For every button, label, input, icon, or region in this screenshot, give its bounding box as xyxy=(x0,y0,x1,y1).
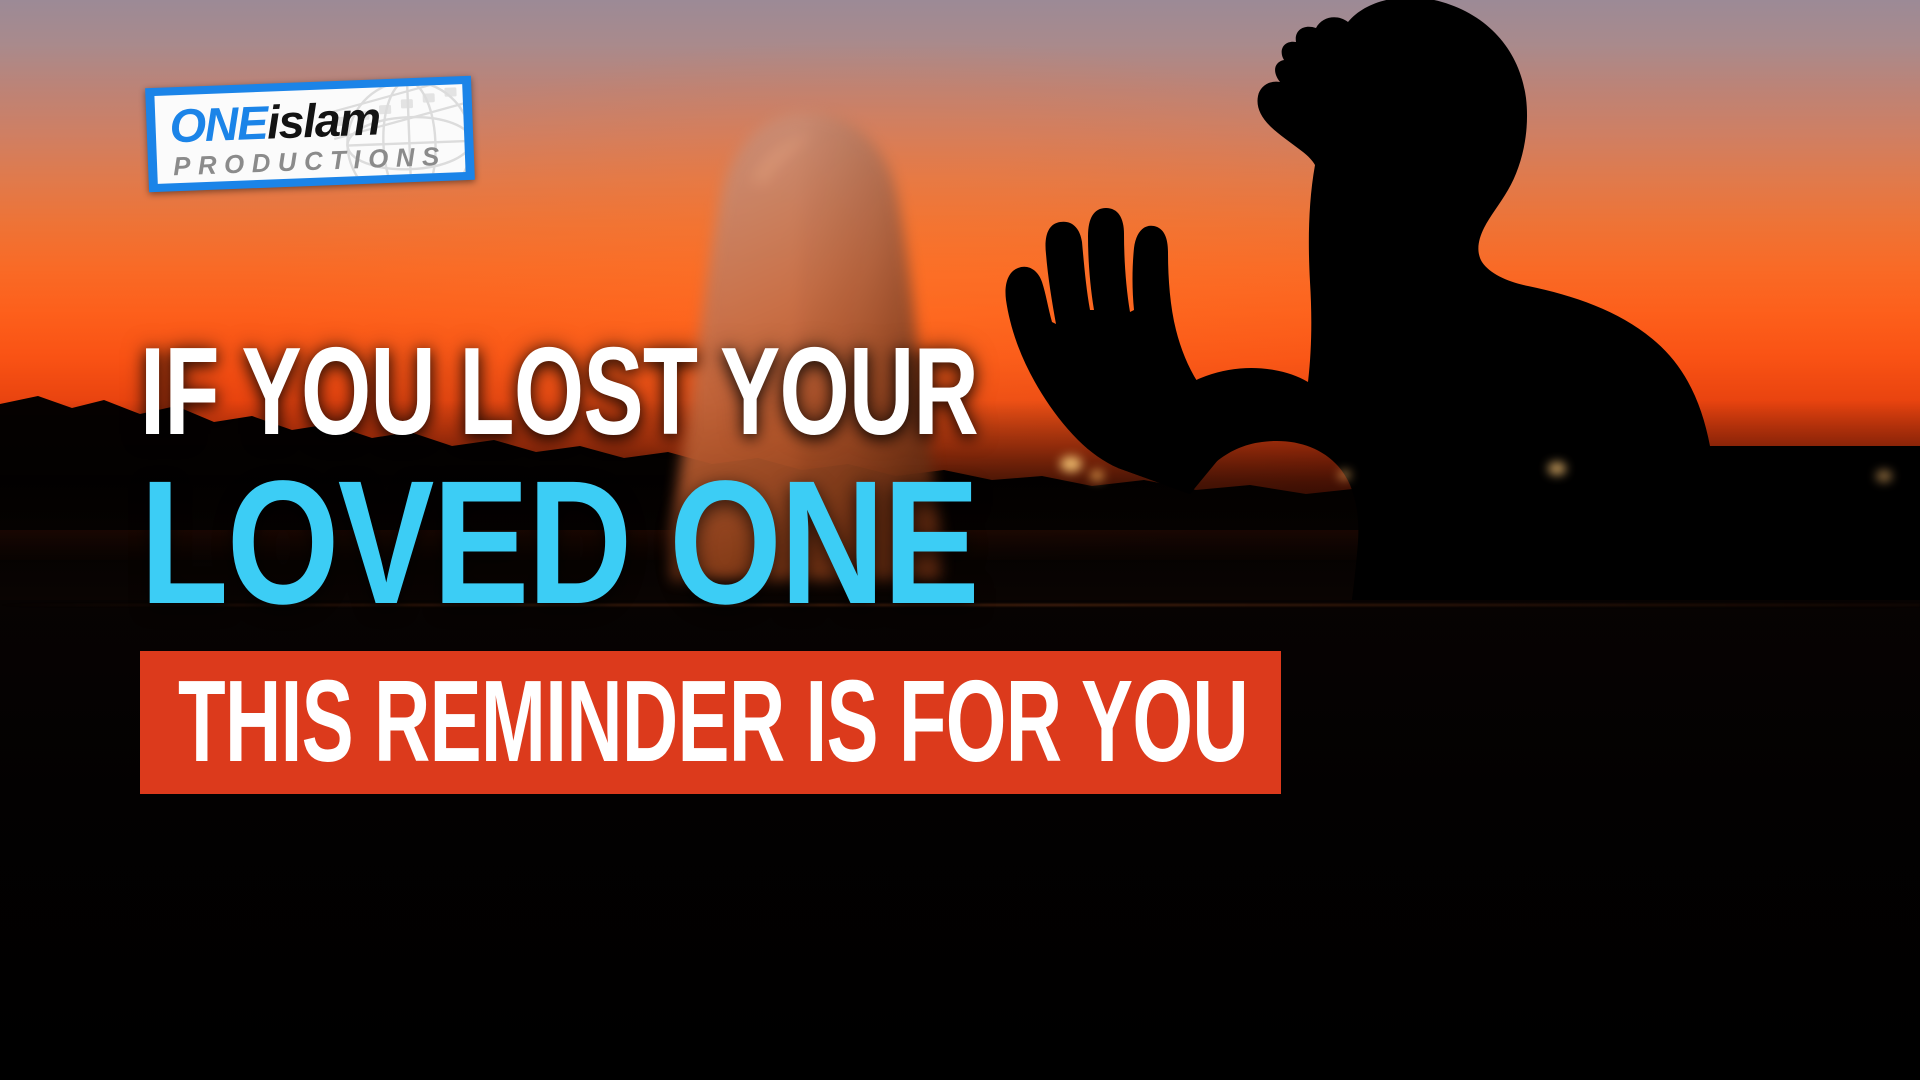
headline-line-1: IF YOU LOST YOUR xyxy=(140,330,978,454)
thumbnail-canvas: ONEislam PRODUCTIONS IF YOU LOST YOUR LO… xyxy=(0,0,1920,1080)
headline-block: IF YOU LOST YOUR LOVED ONE THIS REMINDER… xyxy=(0,0,1920,1080)
headline-line-2: LOVED ONE xyxy=(140,455,978,631)
headline-banner: THIS REMINDER IS FOR YOU xyxy=(140,651,1281,794)
headline-line-3: THIS REMINDER IS FOR YOU xyxy=(178,662,1248,780)
